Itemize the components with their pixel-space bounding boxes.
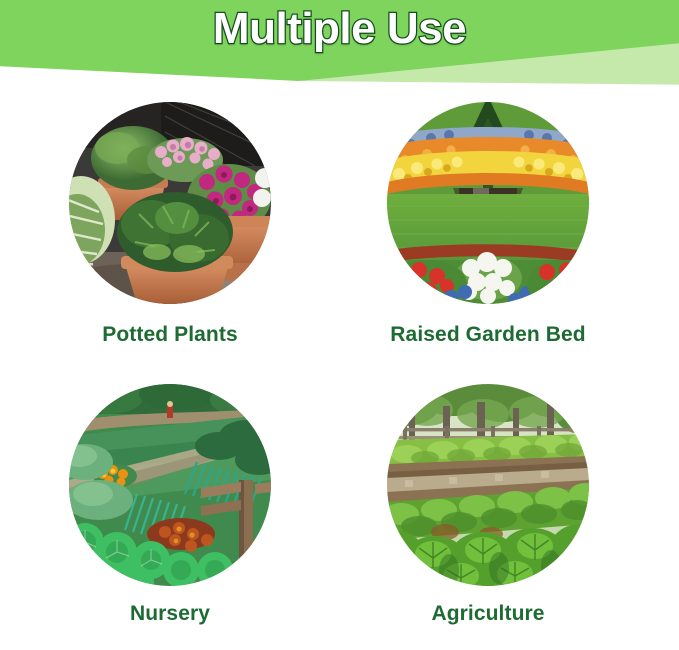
header-banner: Multiple Use [0,0,679,92]
multiple-use-infographic: Multiple Use [0,0,679,650]
card-raised-garden-bed[interactable]: Raised Garden Bed [333,102,643,346]
raised-garden-bed-photo [387,102,589,304]
card-nursery[interactable]: Nursery [15,384,325,625]
nursery-illustration [69,384,271,586]
card-agriculture[interactable]: Agriculture [333,384,643,625]
card-caption: Agriculture [333,602,643,625]
card-potted-plants[interactable]: Potted Plants [15,102,325,346]
agriculture-photo [387,384,589,586]
card-caption: Nursery [15,602,325,625]
use-case-grid: Potted Plants [0,92,679,650]
potted-plants-photo [69,102,271,304]
nursery-photo [69,384,271,586]
page-title: Multiple Use [0,4,679,55]
card-caption: Raised Garden Bed [333,323,643,346]
card-caption: Potted Plants [15,323,325,346]
potted-plants-illustration [69,102,271,304]
raised-garden-bed-illustration [387,102,589,304]
agriculture-illustration [387,384,589,586]
